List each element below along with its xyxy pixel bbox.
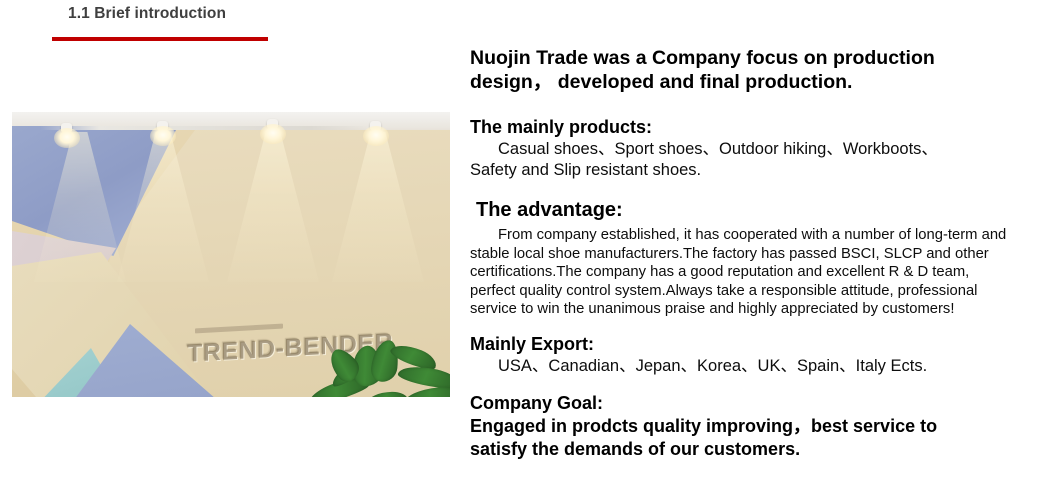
slide-canvas: 1.1 Brief introduction TREND-BENDER	[0, 0, 1060, 491]
content-column: Nuojin Trade was a Company focus on prod…	[470, 46, 1010, 461]
export-list: USA、Canadian、Jepan、Korea、UK、Spain、Italy …	[470, 356, 1010, 377]
page-title: 1.1 Brief introduction	[68, 5, 226, 23]
spotlight-glow	[260, 124, 286, 144]
export-heading: Mainly Export:	[470, 333, 1010, 356]
spotlight-glow	[363, 126, 389, 146]
leaf	[403, 385, 450, 397]
goal-heading: Company Goal:	[470, 392, 1010, 415]
spotlight-glow	[54, 128, 80, 148]
leaf	[368, 391, 408, 397]
intro-statement: Nuojin Trade was a Company focus on prod…	[470, 46, 1010, 94]
goal-line-1: Engaged in prodcts quality improving，bes…	[470, 415, 1010, 438]
title-underline-rule	[52, 37, 268, 41]
products-line-2: Safety and Slip resistant shoes.	[470, 160, 1010, 181]
products-line-1: Casual shoes、Sport shoes、Outdoor hiking、…	[470, 139, 1010, 160]
lighting-track	[40, 126, 370, 130]
spotlight-glow	[150, 126, 176, 146]
advantage-body: From company established, it has coopera…	[470, 226, 1010, 319]
advantage-heading: The advantage:	[476, 198, 1010, 223]
products-heading: The mainly products:	[470, 116, 1010, 139]
goal-line-2: satisfy the demands of our customers.	[470, 438, 1010, 461]
money-tree-plant	[312, 340, 450, 397]
office-lobby-photo: TREND-BENDER	[12, 112, 450, 397]
